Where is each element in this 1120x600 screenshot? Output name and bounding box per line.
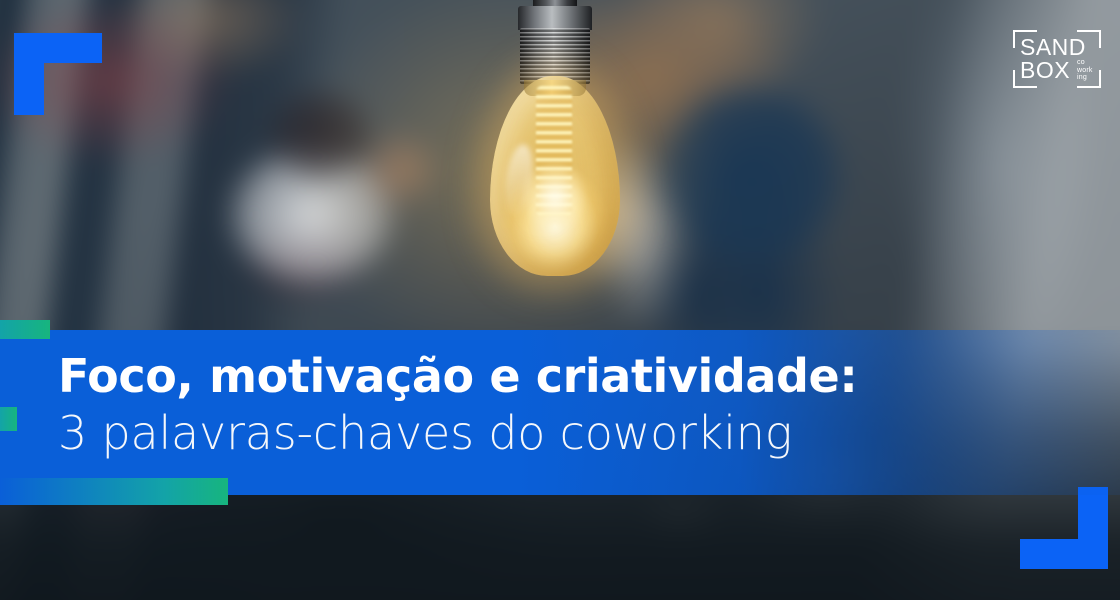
logo-word-sand: SAND bbox=[1020, 35, 1086, 59]
headline-text-block: Foco, motivação e criatividade: 3 palavr… bbox=[58, 348, 1038, 462]
logo-subtext-line-2: work bbox=[1077, 67, 1103, 75]
accent-square-mid bbox=[0, 407, 17, 431]
corner-bracket-arm-vertical bbox=[14, 33, 44, 115]
logo-subtext-line-3: ing bbox=[1077, 74, 1103, 82]
light-bulb-icon bbox=[480, 0, 630, 294]
bulb-hotspot bbox=[524, 164, 586, 230]
corner-bracket-bottom-right bbox=[1020, 487, 1108, 569]
headline-banner: Foco, motivação e criatividade: 3 palavr… bbox=[0, 330, 1120, 495]
headline-line-2: 3 palavras-chaves do coworking bbox=[58, 404, 1038, 462]
logo-subtext-line-1: co bbox=[1077, 59, 1103, 67]
corner-bracket-arm-vertical bbox=[1078, 487, 1108, 569]
hero-banner-image: Foco, motivação e criatividade: 3 palavr… bbox=[0, 0, 1120, 600]
headline-line-1: Foco, motivação e criatividade: bbox=[58, 348, 1038, 404]
sandbox-logo[interactable]: SAND BOX co work ing bbox=[1013, 30, 1101, 88]
accent-bar-top bbox=[0, 320, 50, 339]
accent-bar-bottom bbox=[0, 478, 228, 505]
logo-subtext: co work ing bbox=[1077, 59, 1103, 82]
bulb-cap bbox=[518, 6, 592, 30]
corner-bracket-top-left bbox=[14, 33, 102, 115]
logo-word-box: BOX bbox=[1020, 58, 1070, 82]
